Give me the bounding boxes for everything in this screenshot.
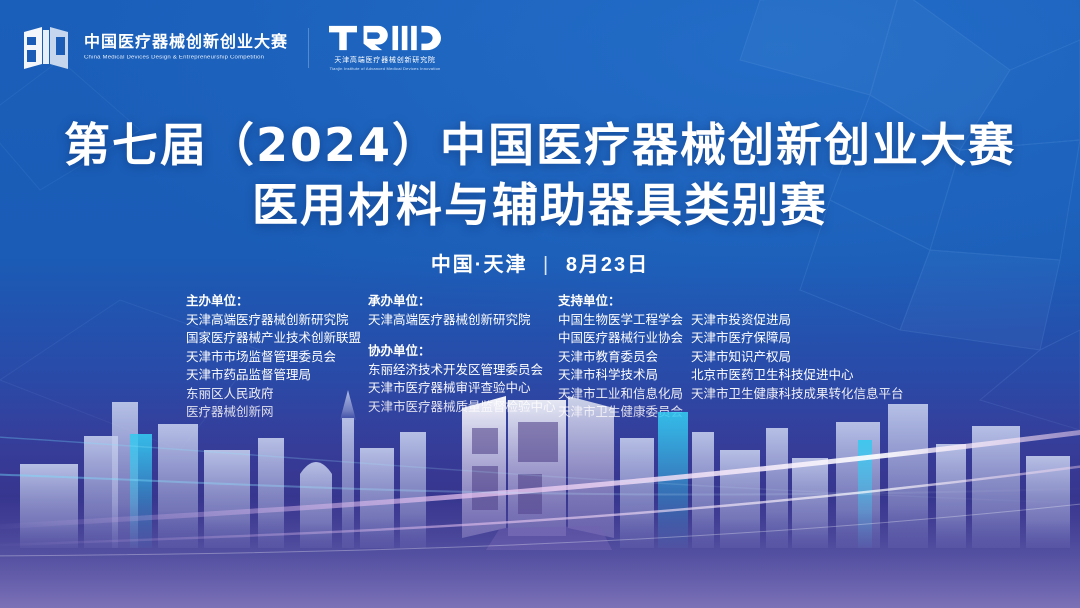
- partner-name-en: Tianjin Institute of Advanced Medical De…: [330, 67, 441, 71]
- org-heading-support: 支持单位：: [558, 292, 691, 311]
- org-item: 天津市教育委员会: [558, 348, 691, 367]
- org-item: 天津市投资促进局: [691, 311, 904, 330]
- title-block: 第七届（2024）中国医疗器械创新创业大赛 医用材料与辅助器具类别赛 中国·天津…: [0, 118, 1080, 277]
- org-item: 东丽经济技术开发区管理委员会: [368, 361, 558, 380]
- event-date: 8月23日: [566, 254, 649, 276]
- event-location: 中国·天津: [431, 254, 528, 276]
- competition-logo-text: 中国医疗器械创新创业大赛 China Medical Devices Desig…: [84, 35, 288, 61]
- org-item: 天津高端医疗器械创新研究院: [368, 311, 558, 330]
- main-title-line1: 第七届（2024）中国医疗器械创新创业大赛: [0, 118, 1080, 172]
- org-heading-host: 主办单位：: [186, 292, 368, 311]
- org-item: 中国生物医学工程学会: [558, 311, 691, 330]
- org-spacer: [368, 329, 558, 342]
- main-title-line2: 医用材料与辅助器具类别赛: [0, 178, 1080, 232]
- triid-wordmark-icon: [329, 24, 441, 52]
- partner-name-cn: 天津高端医疗器械创新研究院: [334, 57, 435, 64]
- org-item: 国家医疗器械产业技术创新联盟: [186, 329, 368, 348]
- org-heading-organizer: 承办单位：: [368, 292, 558, 311]
- logo-title-en: China Medical Devices Design & Entrepren…: [84, 55, 288, 61]
- header-logos: 中国医疗器械创新创业大赛 China Medical Devices Desig…: [22, 24, 441, 71]
- logo-divider: [308, 28, 309, 68]
- city-scene: [0, 378, 1080, 608]
- subtitle-divider: |: [543, 254, 550, 277]
- org-item: 天津高端医疗器械创新研究院: [186, 311, 368, 330]
- logo-title-cn: 中国医疗器械创新创业大赛: [84, 35, 288, 51]
- org-item: 天津市医疗保障局: [691, 329, 904, 348]
- org-heading-support-continued: [691, 292, 904, 311]
- org-heading-coorganizer: 协办单位：: [368, 342, 558, 361]
- org-item: 中国医疗器械行业协会: [558, 329, 691, 348]
- event-subtitle: 中国·天津 | 8月23日: [0, 248, 1080, 277]
- org-item: 天津市知识产权局: [691, 348, 904, 367]
- poster-canvas: 中国医疗器械创新创业大赛 China Medical Devices Desig…: [0, 0, 1080, 608]
- org-item: 天津市市场监督管理委员会: [186, 348, 368, 367]
- partner-logo: 天津高端医疗器械创新研究院 Tianjin Institute of Advan…: [329, 24, 441, 71]
- open-door-gate-icon: [22, 26, 70, 70]
